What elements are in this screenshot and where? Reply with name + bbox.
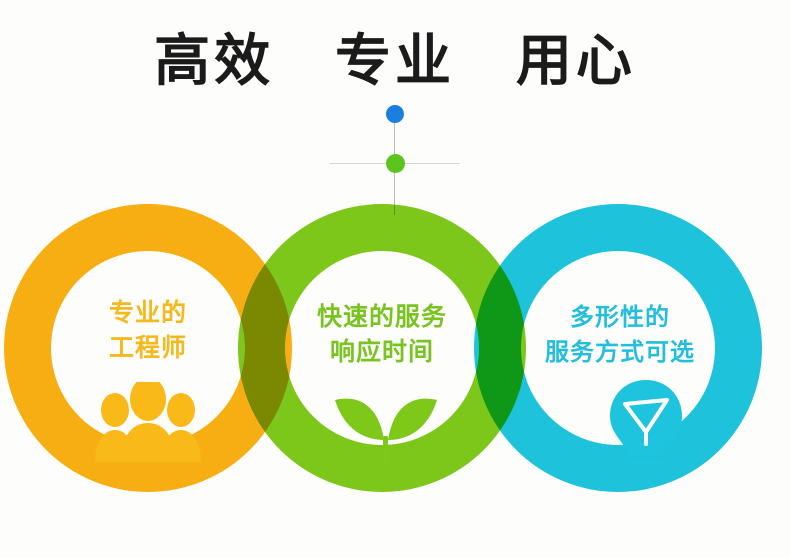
circle-content-service-options: 多形性的 服务方式可选 (504, 300, 736, 370)
service-line-2: 服务方式可选 (504, 335, 736, 370)
response-line-1: 快速的服务 (282, 300, 482, 335)
circle-content-response-time: 快速的服务 响应时间 (282, 300, 482, 370)
venn-rings (0, 0, 790, 557)
service-line-1: 多形性的 (504, 300, 736, 335)
engineers-line-1: 专业的 (48, 296, 248, 331)
engineers-line-2: 工程师 (48, 331, 248, 366)
infographic-canvas: 高效 专业 用心 (0, 0, 790, 557)
circle-content-engineers: 专业的 工程师 (48, 296, 248, 366)
response-line-2: 响应时间 (282, 335, 482, 370)
ring-service-options (0, 0, 790, 557)
